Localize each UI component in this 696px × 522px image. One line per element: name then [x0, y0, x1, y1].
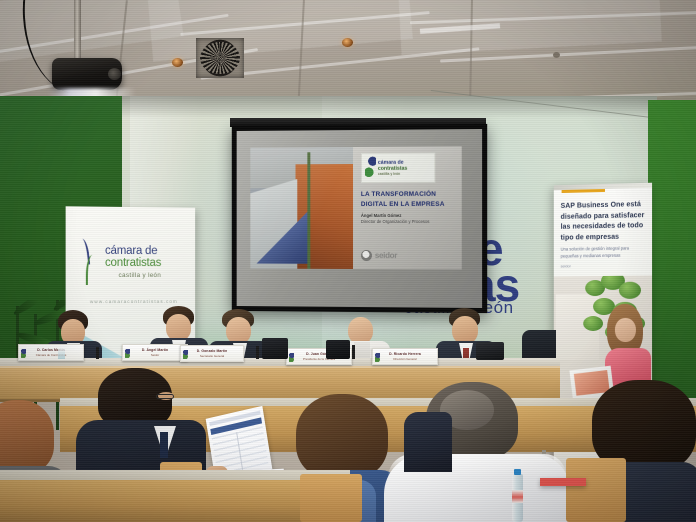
- audience-desk-front: [0, 480, 350, 522]
- nameplate-name: D. Gonzalo Martín: [197, 349, 228, 353]
- banner-left-logo-line1: cámara de: [105, 244, 161, 257]
- banner-left-url: www.camaracontratistas.com: [90, 299, 178, 304]
- camara-logo-mark-icon: [125, 349, 130, 358]
- nameplate: D. Carlos Martín Cámara de Contratistas: [18, 344, 84, 361]
- banner-accent-bar: [562, 189, 605, 193]
- water-glass-icon: [58, 348, 65, 359]
- camara-logo-mark-icon: [183, 350, 188, 359]
- projection-screen: cámara de contratistas castilla y león L…: [232, 124, 487, 313]
- ceiling-spotlight: [342, 38, 353, 47]
- ceiling-air-diffuser: [196, 38, 244, 78]
- microphone-icon: [256, 346, 259, 359]
- laptop-icon: [262, 338, 288, 359]
- microphone-icon: [96, 347, 99, 359]
- camara-logo-mark-icon: [375, 353, 380, 362]
- laptop-icon: [476, 342, 504, 360]
- ceiling-spotlight: [172, 58, 183, 67]
- printed-handout: [540, 478, 586, 486]
- nameplate: D. Gonzalo Martín Secretario General: [180, 345, 244, 362]
- water-bottle: [512, 474, 523, 522]
- screen-glare: [237, 129, 482, 308]
- projector-lens-icon: [108, 68, 121, 80]
- chair-back: [300, 474, 362, 522]
- camara-logo-mark-icon: [78, 239, 100, 285]
- nameplate: D. Ángel Martín Seidor: [122, 344, 188, 361]
- microphone-icon: [352, 345, 355, 359]
- banner-right-brandline: seidor: [561, 264, 571, 268]
- eyeglasses-icon: [156, 394, 174, 399]
- banner-left-logo-line3: castilla y león: [105, 272, 161, 279]
- camara-logo-mark-icon: [289, 353, 294, 362]
- audience-member: [404, 412, 452, 472]
- laptop-icon: [326, 340, 350, 359]
- banner-right-headline: SAP Business One está diseñado para sati…: [561, 200, 646, 244]
- nameplate-role: Dirección General: [393, 357, 416, 361]
- banner-right-subline: Una solución de gestión integral para pe…: [561, 245, 640, 260]
- nameplate: D. Ricardo Herrera Dirección General: [372, 348, 438, 365]
- banner-left-logo-line2: contratistas: [105, 257, 161, 270]
- projector-mount-pole: [74, 0, 81, 64]
- chair-back: [566, 458, 626, 522]
- nameplate-name: D. Ricardo Herrera: [389, 352, 421, 356]
- conference-photo: e as castilla y león: [0, 0, 696, 522]
- nameplate-role: Seidor: [151, 353, 159, 357]
- banner-left-logo: cámara de contratistas castilla y león: [78, 239, 161, 285]
- nameplate-name: D. Ángel Martín: [142, 348, 168, 352]
- camara-logo-mark-icon: [21, 349, 26, 358]
- right-green-wall-panel: [648, 100, 696, 400]
- nameplate-role: Secretario General: [200, 354, 224, 358]
- ceiling-sprinkler: [553, 52, 560, 58]
